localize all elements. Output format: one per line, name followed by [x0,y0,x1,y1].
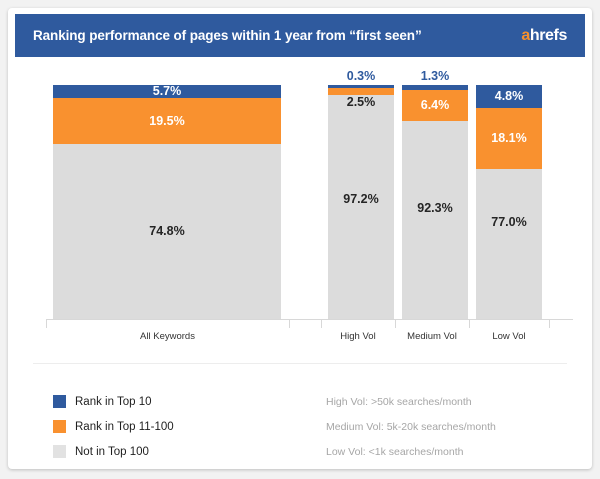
axis-tick [46,319,47,328]
segment-not-top100-all-keywords: 74.8% [53,144,281,319]
category-label-medium-vol: Medium Vol [395,331,469,342]
plot-area: 5.7% 19.5% 74.8% 0.3% 2.5% 97.2% 1.3 [8,57,592,347]
legend-swatch-gray-icon [53,445,66,458]
chart-notes: High Vol: >50k searches/month Medium Vol… [326,389,576,464]
legend-label: Rank in Top 11-100 [75,421,174,433]
segment-top10-low-vol: 4.8% [476,85,542,108]
segment-top11-all-keywords: 19.5% [53,98,281,144]
bar-medium-vol: 1.3% 6.4% 92.3% [402,85,468,319]
axis-tick [395,319,396,328]
note-low-vol: Low Vol: <1k searches/month [326,439,576,464]
segment-not-top100-low-vol: 77.0% [476,169,542,319]
segment-label: 6.4% [421,99,450,112]
bar-all-keywords: 5.7% 19.5% 74.8% [53,85,281,319]
segment-label: 1.3% [421,70,450,83]
note-high-vol: High Vol: >50k searches/month [326,389,576,414]
chart-card: Ranking performance of pages within 1 ye… [8,8,592,469]
category-label-low-vol: Low Vol [469,331,549,342]
page-title: Ranking performance of pages within 1 ye… [33,28,422,43]
axis-tick [321,319,322,328]
segment-label: 77.0% [491,216,526,229]
segment-not-top100-medium-vol: 92.3% [402,121,468,319]
x-axis-line [46,319,573,320]
segment-label: 18.1% [491,132,526,145]
legend-label: Rank in Top 10 [75,396,152,408]
legend-label: Not in Top 100 [75,446,149,458]
segment-not-top100-high-vol: 97.2% [328,95,394,320]
segment-top11-high-vol: 2.5% [328,88,394,95]
segment-label: 92.3% [417,202,452,215]
segment-top11-medium-vol: 6.4% [402,90,468,121]
legend-swatch-blue-icon [53,395,66,408]
segment-label: 0.3% [347,70,376,83]
segment-label: 74.8% [149,225,184,238]
segment-label: 4.8% [495,90,524,103]
category-label-high-vol: High Vol [321,331,395,342]
bar-high-vol: 0.3% 2.5% 97.2% [328,85,394,319]
bar-low-vol: 4.8% 18.1% 77.0% [476,85,542,319]
logo-text: hrefs [530,27,567,44]
legend-item-top10: Rank in Top 10 [53,389,283,414]
segment-label: 19.5% [149,115,184,128]
axis-tick [549,319,550,328]
legend-item-top11-100: Rank in Top 11-100 [53,414,283,439]
segment-label: 5.7% [153,85,182,98]
divider [33,363,567,364]
legend-swatch-orange-icon [53,420,66,433]
note-medium-vol: Medium Vol: 5k-20k searches/month [326,414,576,439]
chart-header: Ranking performance of pages within 1 ye… [15,14,585,57]
legend-item-not-top100: Not in Top 100 [53,439,283,464]
chart-legend: Rank in Top 10 Rank in Top 11-100 Not in… [53,389,283,464]
logo-letter-a: a [521,27,530,44]
ahrefs-logo: ahrefs [521,27,567,45]
segment-label: 97.2% [343,193,378,206]
category-label-all-keywords: All Keywords [46,331,289,342]
segment-top10-all-keywords: 5.7% [53,85,281,98]
segment-top11-low-vol: 18.1% [476,108,542,169]
axis-tick [289,319,290,328]
segment-label: 2.5% [347,96,376,109]
axis-tick [469,319,470,328]
